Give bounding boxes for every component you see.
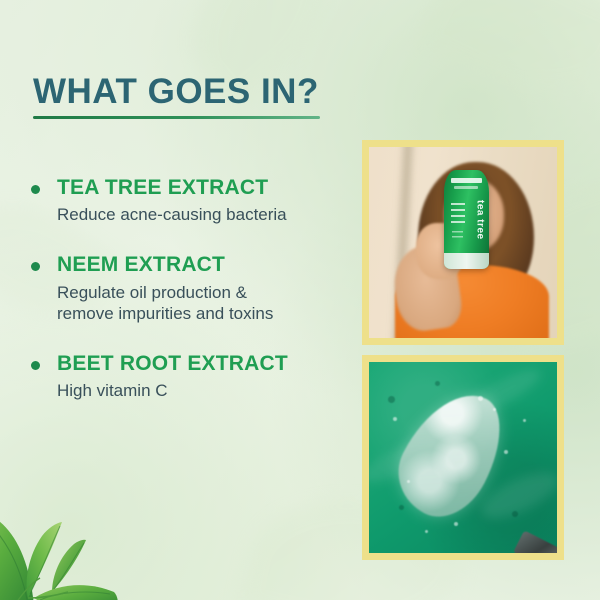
bubble bbox=[512, 511, 518, 517]
list-item: NEEM EXTRACT Regulate oil production & r… bbox=[28, 253, 348, 324]
bubble bbox=[399, 505, 404, 510]
poster-canvas: WHAT GOES IN? TEA TREE EXTRACT Reduce ac… bbox=[0, 0, 600, 600]
ingredient-name: BEET ROOT EXTRACT bbox=[57, 352, 348, 376]
bullet-icon bbox=[31, 185, 40, 194]
ingredient-name: TEA TREE EXTRACT bbox=[57, 176, 348, 200]
list-item: BEET ROOT EXTRACT High vitamin C bbox=[28, 352, 348, 401]
tube-text-lines bbox=[451, 203, 465, 225]
bubble bbox=[435, 381, 440, 386]
tube-brand-logo bbox=[451, 178, 482, 183]
product-photo-frame: tea tree bbox=[362, 140, 564, 345]
background-leaf-shape bbox=[414, 0, 600, 125]
bubble bbox=[425, 530, 428, 533]
ingredient-list: TEA TREE EXTRACT Reduce acne-causing bac… bbox=[28, 176, 348, 401]
tube-cap bbox=[444, 253, 489, 269]
title-underline bbox=[33, 116, 320, 119]
bubble bbox=[504, 450, 508, 454]
texture-photo bbox=[369, 362, 557, 553]
tube-brand-subtext bbox=[454, 186, 477, 189]
product-tube: tea tree bbox=[444, 170, 489, 269]
ingredient-description: Reduce acne-causing bacteria bbox=[57, 204, 348, 225]
ingredient-name: NEEM EXTRACT bbox=[57, 253, 348, 277]
photo-scene-gel bbox=[369, 362, 557, 553]
bubble bbox=[523, 419, 526, 422]
page-title: WHAT GOES IN? bbox=[33, 72, 319, 112]
ingredient-description: Regulate oil production & remove impurit… bbox=[57, 282, 348, 325]
nozzle bbox=[513, 530, 557, 553]
leaf-decoration-icon bbox=[0, 486, 169, 600]
bubble bbox=[493, 408, 496, 411]
photo-scene-model: tea tree bbox=[369, 147, 557, 338]
texture-photo-frame bbox=[362, 355, 564, 560]
tube-product-label: tea tree bbox=[474, 200, 485, 240]
bubble bbox=[393, 417, 397, 421]
list-item: TEA TREE EXTRACT Reduce acne-causing bac… bbox=[28, 176, 348, 225]
bullet-icon bbox=[31, 361, 40, 370]
ingredient-description: High vitamin C bbox=[57, 380, 348, 401]
bubble bbox=[454, 522, 458, 526]
bubble bbox=[388, 396, 395, 403]
product-photo: tea tree bbox=[369, 147, 557, 338]
tube-text-lines bbox=[452, 231, 463, 241]
bullet-icon bbox=[31, 262, 40, 271]
